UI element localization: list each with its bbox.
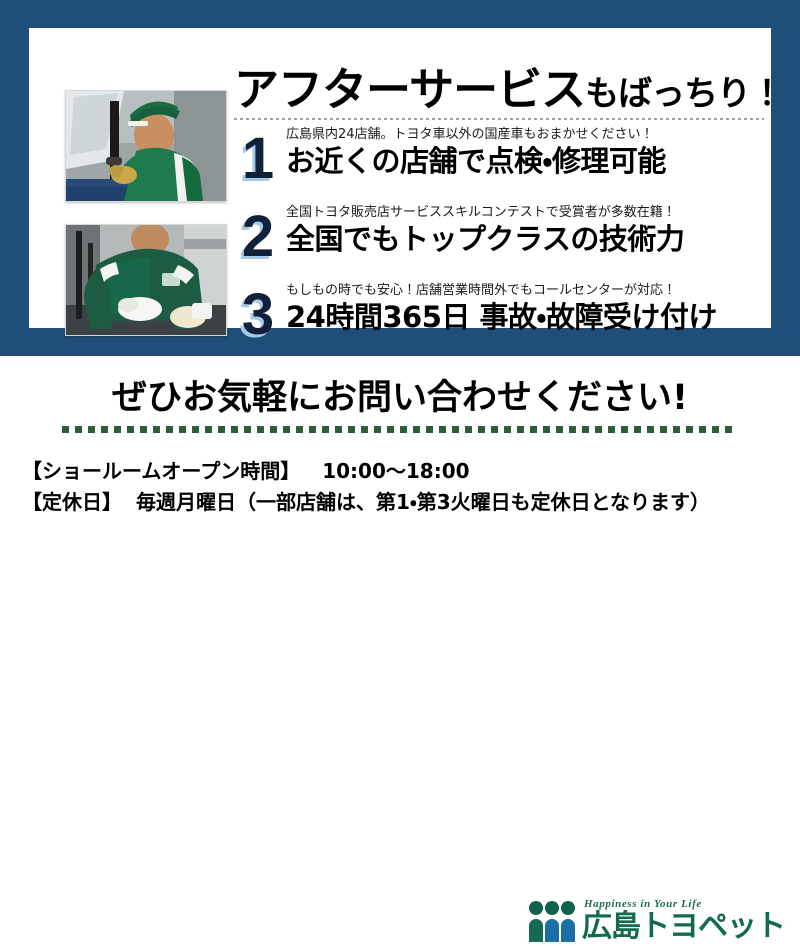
feature-body-3: もしもの時でも安心！店舗営業時間外でもコールセンターが対応！ 24時間365日 … xyxy=(286,282,800,335)
service-card: アフターサービスもばっちり！ xyxy=(29,28,771,328)
showroom-hours-value: 10:00〜18:00 xyxy=(322,459,469,483)
feature-subtitle-1: 広島県内24店舗。トヨタ車以外の国産車もおまかせください！ xyxy=(286,126,800,143)
showroom-hours-row: 【ショールームオープン時間】10:00〜18:00 xyxy=(22,456,782,487)
feature-subtitle-3: もしもの時でも安心！店舗営業時間外でもコールセンターが対応！ xyxy=(286,282,800,299)
technician-inspecting-vehicle-image xyxy=(66,91,226,201)
closed-days-row: 【定休日】毎週月曜日（一部店舗は、第1・第3火曜日も定休日となります） xyxy=(22,487,782,518)
company-logo: Happiness in Your Life 広島トヨペット xyxy=(528,896,786,948)
feature-number-2: 2 xyxy=(234,206,282,268)
advertisement-poster: アフターサービスもばっちり！ xyxy=(0,0,800,600)
logo-text: Happiness in Your Life 広島トヨペット xyxy=(584,896,784,948)
feature-item-3: 3 もしもの時でも安心！店舗営業時間外でもコールセンターが対応！ 24時間365… xyxy=(234,282,800,356)
business-hours-block: 【ショールームオープン時間】10:00〜18:00 【定休日】毎週月曜日（一部店… xyxy=(22,456,782,518)
closed-days-label: 【定休日】 xyxy=(22,490,122,514)
feature-body-2: 全国トヨタ販売店サービススキルコンテストで受賞者が多数在籍！ 全国でもトップクラ… xyxy=(286,204,800,257)
headline-main: アフターサービス xyxy=(234,67,585,112)
feature-item-1: 1 広島県内24店舗。トヨタ車以外の国産車もおまかせください！ お近くの店舗で点… xyxy=(234,126,800,200)
logo-tagline: Happiness in Your Life xyxy=(584,898,702,910)
feature-title-2: 全国でもトップクラスの技術力 xyxy=(286,221,800,257)
feature-item-2: 2 全国トヨタ販売店サービススキルコンテストで受賞者が多数在籍！ 全国でもトップ… xyxy=(234,204,800,278)
feature-number-3: 3 xyxy=(234,284,282,346)
technician-photo-1 xyxy=(65,90,227,202)
headline-suffix: もばっちり！ xyxy=(585,77,783,112)
three-people-figures-icon xyxy=(528,900,576,942)
page-title: アフターサービスもばっちり！ xyxy=(234,54,764,112)
three-people-icon xyxy=(528,900,576,942)
closed-days-value: 毎週月曜日（一部店舗は、第1・第3火曜日も定休日となります） xyxy=(136,490,710,514)
feature-number-1: 1 xyxy=(234,128,282,190)
logo-company-name: 広島トヨペット xyxy=(582,910,785,944)
technician-photo-2 xyxy=(65,224,227,336)
showroom-hours-label: 【ショールームオープン時間】 xyxy=(22,459,300,483)
navy-frame: アフターサービスもばっちり！ xyxy=(0,0,800,356)
feature-body-1: 広島県内24店舗。トヨタ車以外の国産車もおまかせください！ お近くの店舗で点検・… xyxy=(286,126,800,179)
feature-title-3: 24時間365日 事故・故障受け付け xyxy=(286,299,800,335)
contact-section: ぜひお気軽にお問い合わせください! 【ショールームオープン時間】10:00〜18… xyxy=(0,356,800,600)
contact-divider xyxy=(62,426,738,433)
feature-subtitle-2: 全国トヨタ販売店サービススキルコンテストで受賞者が多数在籍！ xyxy=(286,204,800,221)
headline-divider xyxy=(234,118,764,120)
feature-title-1: お近くの店舗で点検・修理可能 xyxy=(286,143,800,179)
contact-call-to-action: ぜひお気軽にお問い合わせください! xyxy=(0,376,800,420)
technician-in-green-uniform-image xyxy=(66,225,226,335)
